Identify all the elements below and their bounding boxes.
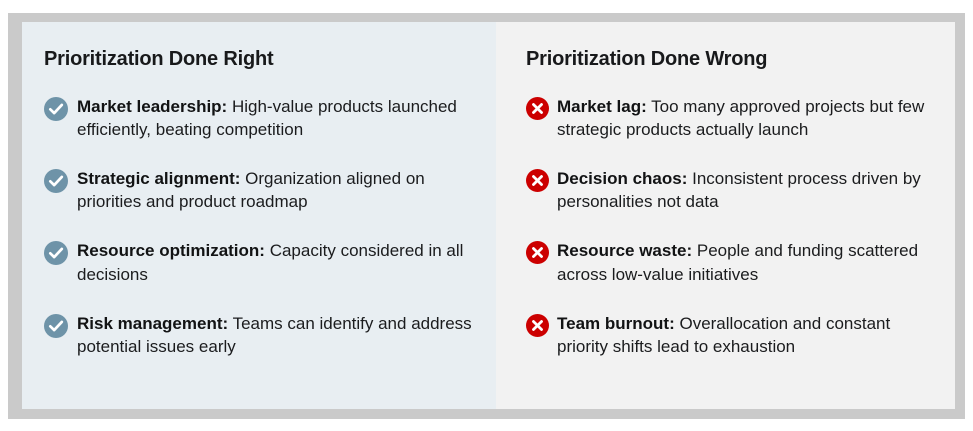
list-item: Resource waste: People and funding scatt… [526, 239, 937, 285]
list-item-text: Decision chaos: Inconsistent process dri… [557, 167, 937, 213]
list-item-term: Team burnout: [557, 314, 675, 333]
list-item: Market lag: Too many approved projects b… [526, 95, 937, 141]
comparison-graphic-frame: Prioritization Done Right Market leaders… [8, 13, 965, 419]
risk-list: Market lag: Too many approved projects b… [526, 95, 937, 358]
list-item-term: Market lag: [557, 97, 647, 116]
list-item-term: Decision chaos: [557, 169, 687, 188]
list-item-text: Resource waste: People and funding scatt… [557, 239, 937, 285]
list-item: Decision chaos: Inconsistent process dri… [526, 167, 937, 213]
check-circle-icon [44, 241, 68, 265]
list-item-term: Resource optimization: [77, 241, 265, 260]
x-circle-icon [526, 241, 549, 264]
x-circle-icon [526, 314, 549, 337]
list-item: Strategic alignment: Organization aligne… [44, 167, 478, 213]
list-item-text: Risk management: Teams can identify and … [77, 312, 477, 358]
list-item: Market leadership: High-value products l… [44, 95, 478, 141]
comparison-panels: Prioritization Done Right Market leaders… [22, 22, 955, 409]
list-item-term: Market leadership: [77, 97, 227, 116]
panel-done-wrong: Prioritization Done Wrong Market lag: To… [496, 22, 955, 409]
list-item-term: Strategic alignment: [77, 169, 240, 188]
list-item-text: Market leadership: High-value products l… [77, 95, 477, 141]
list-item-text: Market lag: Too many approved projects b… [557, 95, 937, 141]
list-item-term: Risk management: [77, 314, 228, 333]
panel-title-done-wrong: Prioritization Done Wrong [526, 48, 937, 70]
check-circle-icon [44, 314, 68, 338]
list-item-text: Strategic alignment: Organization aligne… [77, 167, 477, 213]
list-item-term: Resource waste: [557, 241, 692, 260]
benefit-list: Market leadership: High-value products l… [44, 95, 478, 358]
x-circle-icon [526, 97, 549, 120]
panel-done-right: Prioritization Done Right Market leaders… [22, 22, 496, 409]
check-circle-icon [44, 97, 68, 121]
check-circle-icon [44, 169, 68, 193]
list-item: Team burnout: Overallocation and constan… [526, 312, 937, 358]
list-item: Resource optimization: Capacity consider… [44, 239, 478, 285]
list-item-text: Team burnout: Overallocation and constan… [557, 312, 937, 358]
x-circle-icon [526, 169, 549, 192]
list-item: Risk management: Teams can identify and … [44, 312, 478, 358]
panel-title-done-right: Prioritization Done Right [44, 48, 478, 70]
list-item-text: Resource optimization: Capacity consider… [77, 239, 477, 285]
